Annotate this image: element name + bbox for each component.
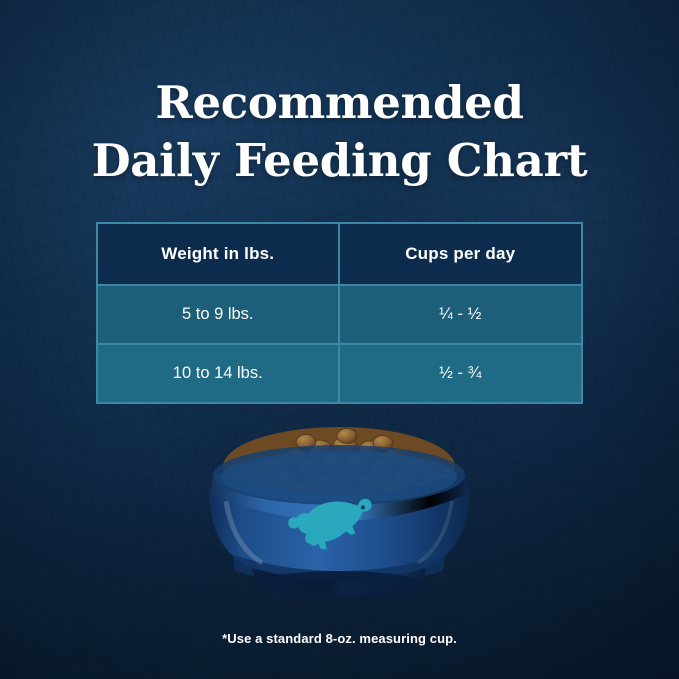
table-header-row: Weight in lbs. Cups per day (98, 224, 581, 284)
footnote-text: *Use a standard 8-oz. measuring cup. (0, 631, 679, 646)
page-title-line-2: Daily Feeding Chart (0, 132, 679, 190)
cell-cups-1: ¼ - ½ (340, 286, 582, 343)
feeding-chart-table: Weight in lbs. Cups per day 5 to 9 lbs. … (96, 222, 583, 404)
table-row: 10 to 14 lbs. ½ - ¾ (98, 343, 581, 402)
column-header-cups: Cups per day (340, 224, 582, 284)
cell-cups-2: ½ - ¾ (340, 345, 582, 402)
page-title: Recommended Daily Feeding Chart (0, 74, 679, 189)
cell-weight-1: 5 to 9 lbs. (98, 286, 340, 343)
cell-weight-2: 10 to 14 lbs. (98, 345, 340, 402)
page-title-line-1: Recommended (0, 74, 679, 132)
column-header-weight: Weight in lbs. (98, 224, 340, 284)
bowl-svg (0, 405, 679, 605)
dog-food-bowl-illustration (0, 405, 679, 605)
table-row: 5 to 9 lbs. ¼ - ½ (98, 284, 581, 343)
feeding-chart-page: Recommended Daily Feeding Chart Weight i… (0, 0, 679, 679)
